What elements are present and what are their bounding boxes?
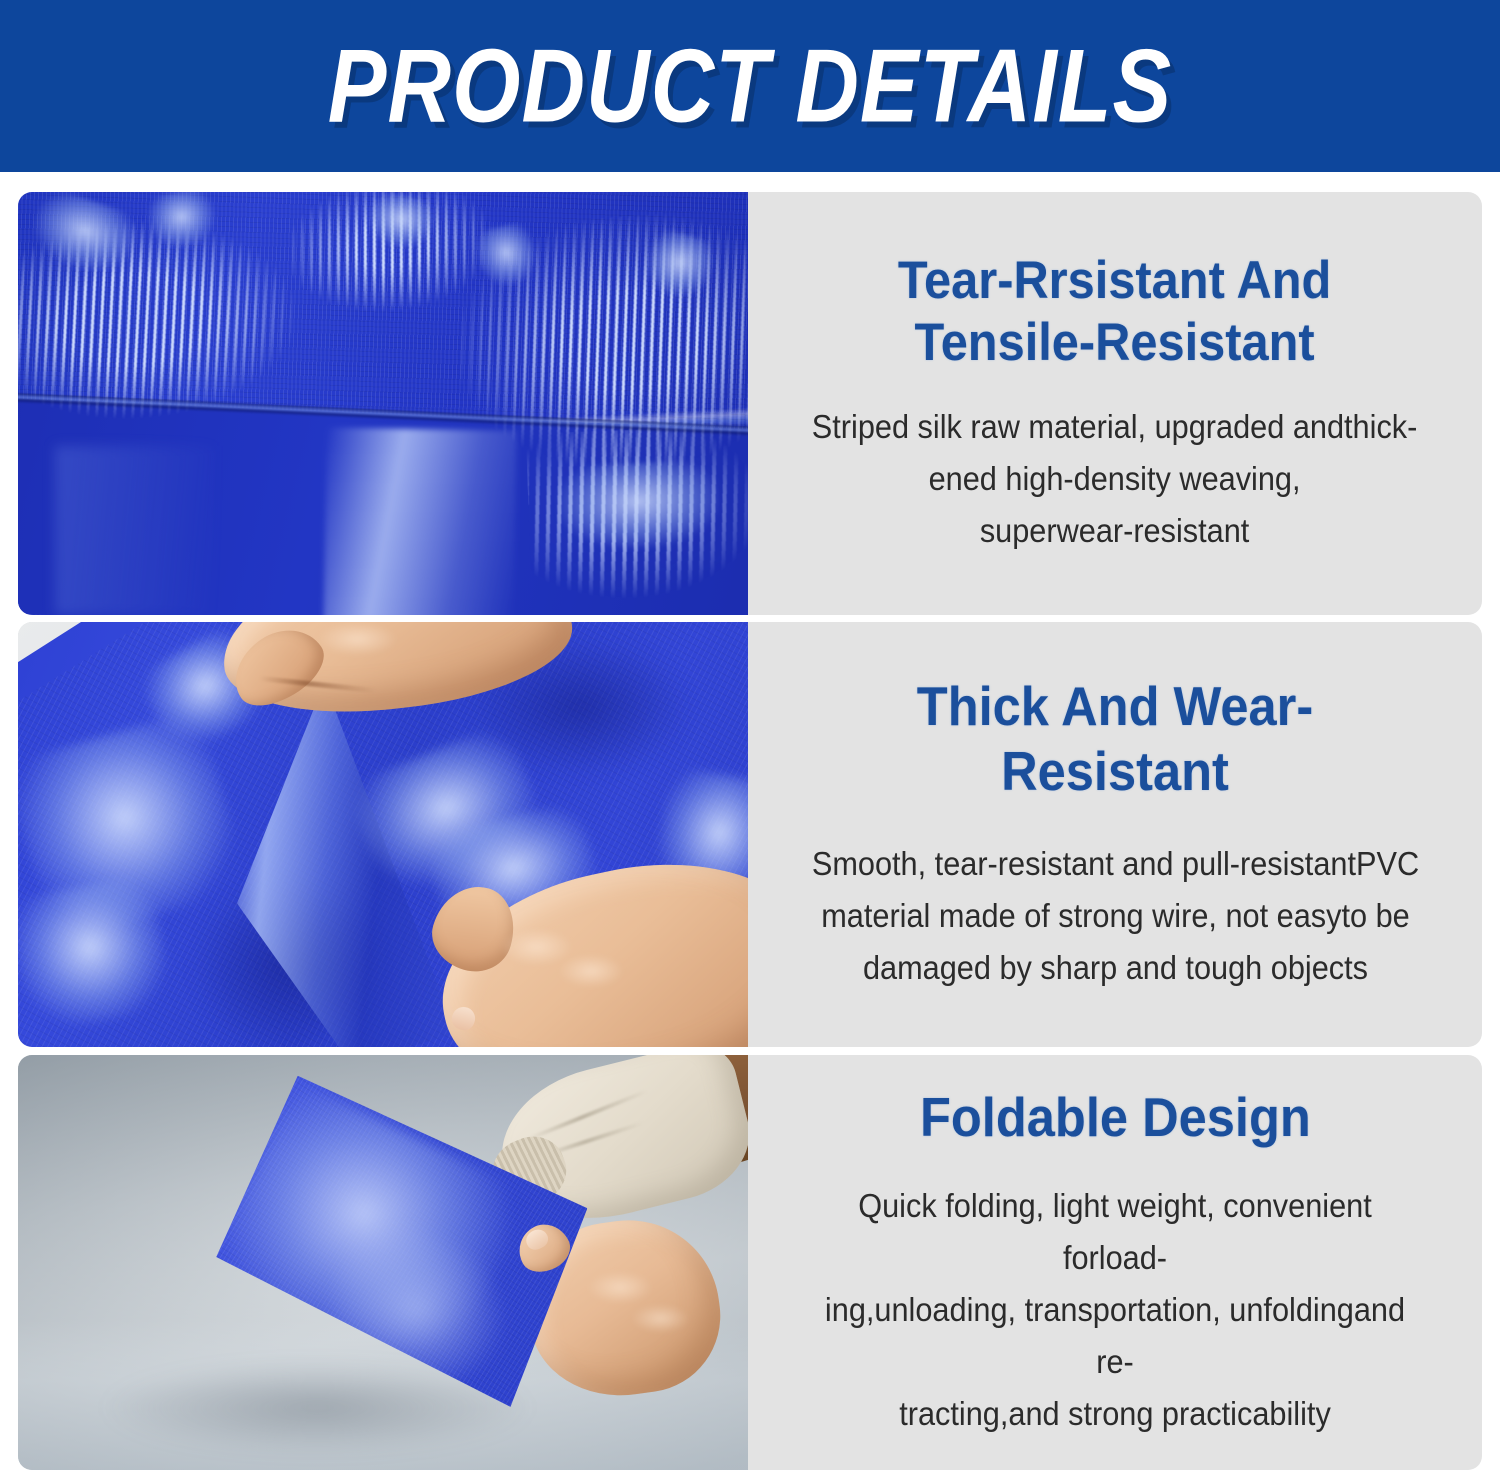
feature-body-3: Quick folding, light weight, convenient … (805, 1180, 1424, 1441)
feature-body-2: Smooth, tear-resistant and pull-resistan… (811, 838, 1418, 994)
tarp-highlight-6 (556, 459, 721, 552)
tarp-lower-glow (55, 446, 216, 615)
feature-body-1: Striped silk raw material, upgraded andt… (812, 401, 1418, 557)
hand-lower-knuckle-2 (558, 954, 624, 988)
model-hand-knuckle-2 (631, 1304, 689, 1333)
product-details-page: PRODUCT DETAILS Tear-Rrsistant And Tensi… (0, 0, 1500, 1481)
feature-heading-1: Tear-Rrsistant And Tensile-Resistant (898, 250, 1331, 375)
feature-text-panel-3: Foldable Design Quick folding, light wei… (748, 1055, 1482, 1470)
feature-row-2: Thick And Wear-Resistant Smooth, tear-re… (18, 622, 1482, 1047)
tarp-highlight-2 (146, 192, 219, 251)
feature-text-panel-2: Thick And Wear-Resistant Smooth, tear-re… (748, 622, 1482, 1047)
feature-image-foldable (18, 1055, 748, 1470)
page-title: PRODUCT DETAILS (328, 26, 1172, 146)
cloth-highlight-2 (18, 874, 175, 1033)
feature-heading-3: Foldable Design (920, 1085, 1311, 1150)
feature-heading-2: Thick And Wear-Resistant (809, 674, 1422, 804)
hand-upper-knuckle (317, 622, 397, 656)
feature-image-tear-resistant (18, 192, 748, 615)
feature-text-panel-1: Tear-Rrsistant And Tensile-Resistant Str… (748, 192, 1482, 615)
feature-row-1: Tear-Rrsistant And Tensile-Resistant Str… (18, 192, 1482, 615)
feature-image-wear-resistant (18, 622, 748, 1047)
model-hand-knuckle-1 (587, 1271, 653, 1304)
page-header-banner: PRODUCT DETAILS (0, 0, 1500, 172)
feature-row-3: Foldable Design Quick folding, light wei… (18, 1055, 1482, 1470)
